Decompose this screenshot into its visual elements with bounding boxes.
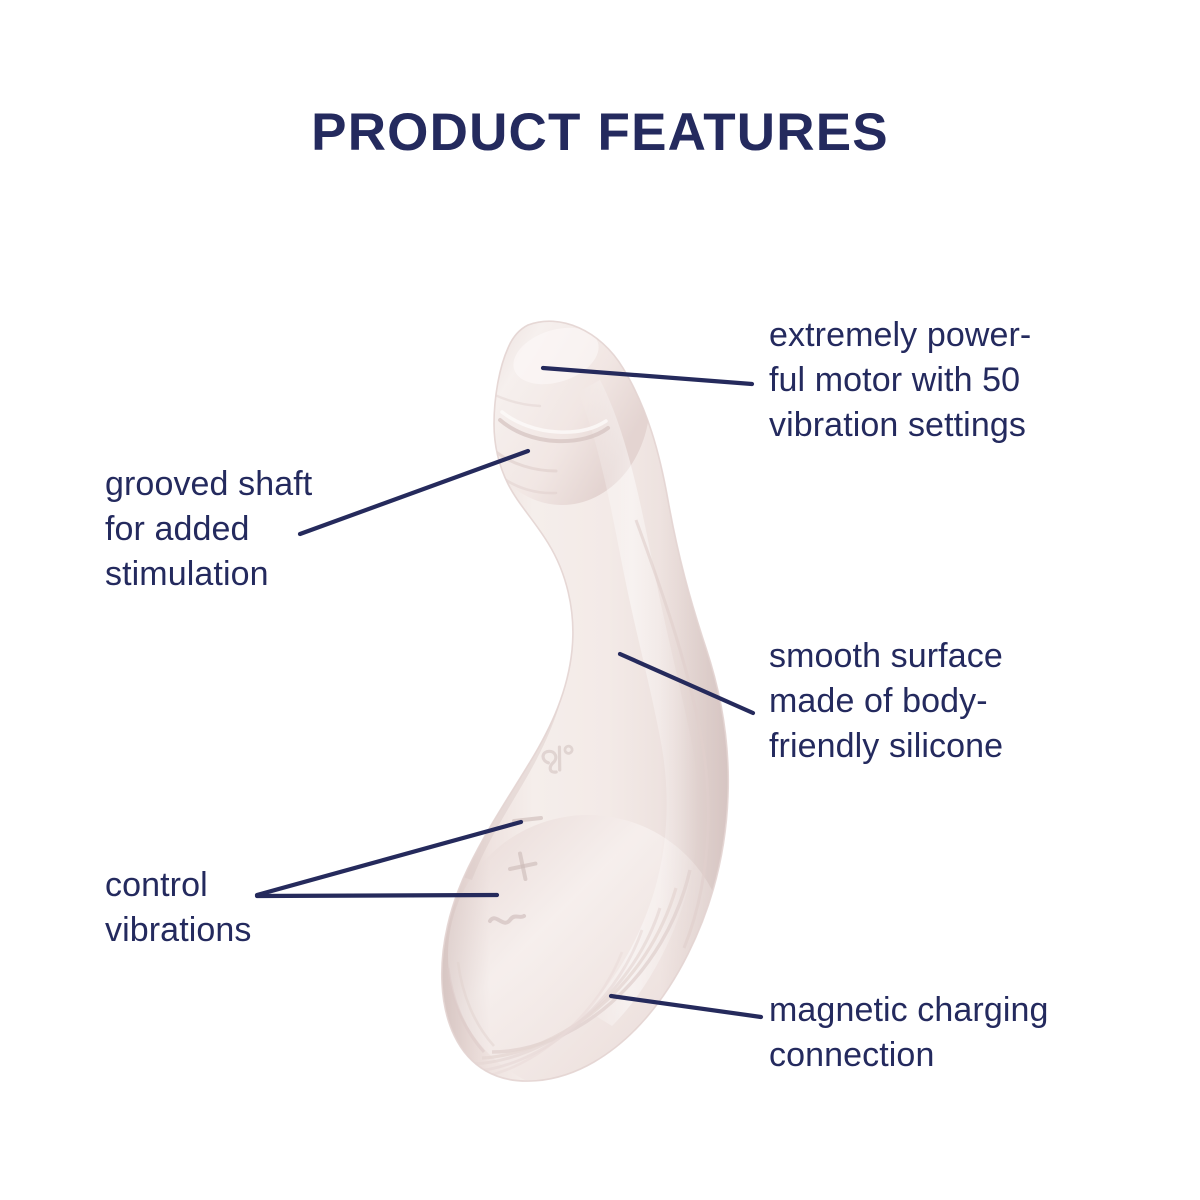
callout-label-magnetic-charging: magnetic charging connection <box>769 988 1109 1078</box>
product-body <box>430 295 740 1100</box>
callout-label-control-vibrations: control vibrations <box>105 863 395 953</box>
callout-label-motor: extremely power- ful motor with 50 vibra… <box>769 313 1099 448</box>
callout-label-smooth-surface: smooth surface made of body- friendly si… <box>769 634 1089 769</box>
callout-label-grooved-shaft: grooved shaft for added stimulation <box>105 462 405 597</box>
product-features-infographic: PRODUCT FEATURES <box>0 0 1200 1200</box>
